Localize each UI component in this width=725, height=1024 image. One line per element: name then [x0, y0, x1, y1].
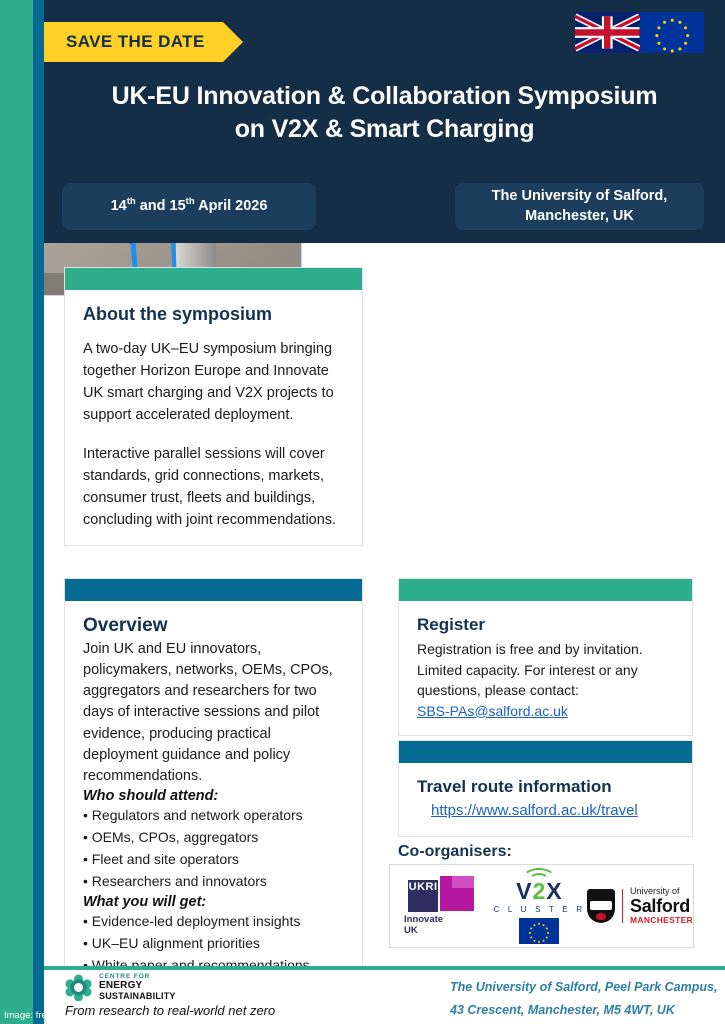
date-pill: 14th and 15th April 2026 [62, 183, 316, 230]
centre-energy-sustainability-logo: CENTRE FOR ENERGY SUSTAINABILITY [65, 973, 176, 1002]
overview-heading: Overview [83, 615, 344, 637]
ukri-block-4 [440, 906, 474, 911]
crest-band [590, 901, 612, 910]
travel-card-body: Travel route information https://www.sal… [399, 763, 692, 836]
ukri-caption-line1: Innovate [404, 914, 443, 925]
venue-line1: The University of Salford, [492, 188, 668, 204]
poster-footer: CENTRE FOR ENERGY SUSTAINABILITY From re… [44, 970, 725, 1024]
ukri-block-2 [440, 888, 474, 906]
poster-root: SAVE THE DATE [0, 0, 725, 1024]
register-card-body: Register Registration is free and by inv… [399, 601, 692, 735]
register-card-accent-bar [399, 579, 692, 601]
crest-emblem [596, 913, 606, 920]
eu-flag-small-icon [519, 918, 559, 944]
page-title-line1: UK-EU Innovation & Collaboration Symposi… [60, 80, 709, 113]
ces-line2: ENERGY [99, 980, 176, 991]
about-card-accent-bar [65, 268, 362, 290]
eu-flag-svg [640, 12, 705, 53]
register-card: Register Registration is free and by inv… [398, 578, 693, 736]
register-email-link[interactable]: SBS-PAs@salford.ac.uk [417, 703, 568, 719]
footer-address-line2: 43 Crescent, Manchester, M5 4WT, UK [450, 999, 717, 1022]
list-item: • Evidence-led deployment insights [83, 910, 344, 932]
left-green-band [0, 0, 33, 1024]
header-pills: 14th and 15th April 2026 The University … [62, 183, 704, 230]
overview-paragraph: Join UK and EU innovators, policymakers,… [83, 639, 344, 787]
list-item: • Fleet and site operators [83, 848, 344, 870]
overview-card-accent-bar [65, 579, 362, 601]
ces-line1: CENTRE FOR [99, 973, 176, 980]
register-heading: Register [417, 615, 674, 635]
venue-line2: Manchester, UK [525, 208, 634, 224]
v2x-cluster-logo: V2X C L U S T E R [492, 868, 586, 944]
ukri-caption: Innovate UK [404, 915, 443, 937]
list-item: • Regulators and network operators [83, 804, 344, 826]
ces-wordmark: CENTRE FOR ENERGY SUSTAINABILITY [99, 973, 176, 1002]
list-item: • UK–EU alignment priorities [83, 932, 344, 954]
about-heading: About the symposium [83, 304, 344, 325]
ukri-letters: UKRI [408, 880, 438, 912]
salford-wordmark: University of Salford MANCHESTER [630, 887, 693, 924]
flags-group [575, 12, 704, 53]
footer-tagline: From research to real-world net zero [65, 1003, 275, 1018]
list-item: • OEMs, CPOs, aggregators [83, 826, 344, 848]
eu-flag-small-svg [519, 918, 559, 944]
eu-flag-icon [640, 12, 705, 53]
university-of-salford-logo: University of Salford MANCHESTER [587, 887, 693, 924]
overview-subheading-attend: Who should attend: [83, 788, 344, 804]
about-card-body: About the symposium A two-day UK–EU symp… [65, 290, 362, 545]
left-blue-band [33, 0, 44, 1024]
save-the-date-label: SAVE THE DATE [44, 22, 223, 62]
about-paragraph-1: A two-day UK–EU symposium bringing toget… [83, 338, 344, 426]
travel-card-accent-bar [399, 741, 692, 763]
ces-line3: SUSTAINABILITY [99, 991, 176, 1001]
salford-line3: MANCHESTER [630, 916, 693, 925]
overview-subheading-get: What you will get: [83, 894, 344, 910]
salford-divider [622, 889, 624, 923]
travel-card: Travel route information https://www.sal… [398, 740, 693, 837]
footer-address-line1: The University of Salford, Peel Park Cam… [450, 976, 717, 999]
about-paragraph-2: Interactive parallel sessions will cover… [83, 443, 344, 531]
date-pill-text: 14th and 15th April 2026 [111, 196, 268, 216]
venue-pill: The University of Salford, Manchester, U… [455, 183, 704, 230]
travel-heading: Travel route information [417, 777, 674, 797]
ces-flower-svg [65, 974, 92, 1001]
page-title-line2: on V2X & Smart Charging [60, 113, 709, 146]
ukri-mark-icon: UKRI [408, 876, 474, 912]
ukri-block-1 [440, 876, 452, 888]
uk-flag-icon [575, 12, 640, 53]
poster-header: SAVE THE DATE [44, 0, 725, 243]
about-card: About the symposium A two-day UK–EU symp… [64, 267, 363, 546]
overview-card-body: Overview Join UK and EU innovators, poli… [65, 601, 362, 990]
co-organisers-title: Co-organisers: [398, 843, 512, 861]
uk-flag-svg [575, 12, 640, 53]
save-the-date-banner: SAVE THE DATE [44, 22, 223, 62]
salford-line2: Salford [630, 897, 693, 916]
salford-crest-icon [587, 889, 615, 923]
list-item: • Researchers and innovators [83, 870, 344, 892]
venue-pill-text: The University of Salford, Manchester, U… [492, 187, 668, 226]
travel-url-link[interactable]: https://www.salford.ac.uk/travel [431, 802, 638, 819]
footer-address: The University of Salford, Peel Park Cam… [450, 976, 717, 1022]
wifi-arcs-icon [518, 868, 560, 881]
ukri-innovate-uk-logo: UKRI Innovate UK [390, 876, 492, 937]
ukri-block-3 [452, 876, 474, 888]
ukri-caption-line2: UK [404, 925, 418, 936]
v2x-cluster-subtitle: C L U S T E R [494, 905, 586, 914]
overview-card: Overview Join UK and EU innovators, poli… [64, 578, 363, 991]
ces-flower-icon [65, 974, 92, 1001]
register-text: Registration is free and by invitation. … [417, 639, 674, 701]
page-title: UK-EU Innovation & Collaboration Symposi… [60, 80, 709, 146]
co-organisers-logos: UKRI Innovate UK V2X C L U S T E R [389, 864, 694, 948]
